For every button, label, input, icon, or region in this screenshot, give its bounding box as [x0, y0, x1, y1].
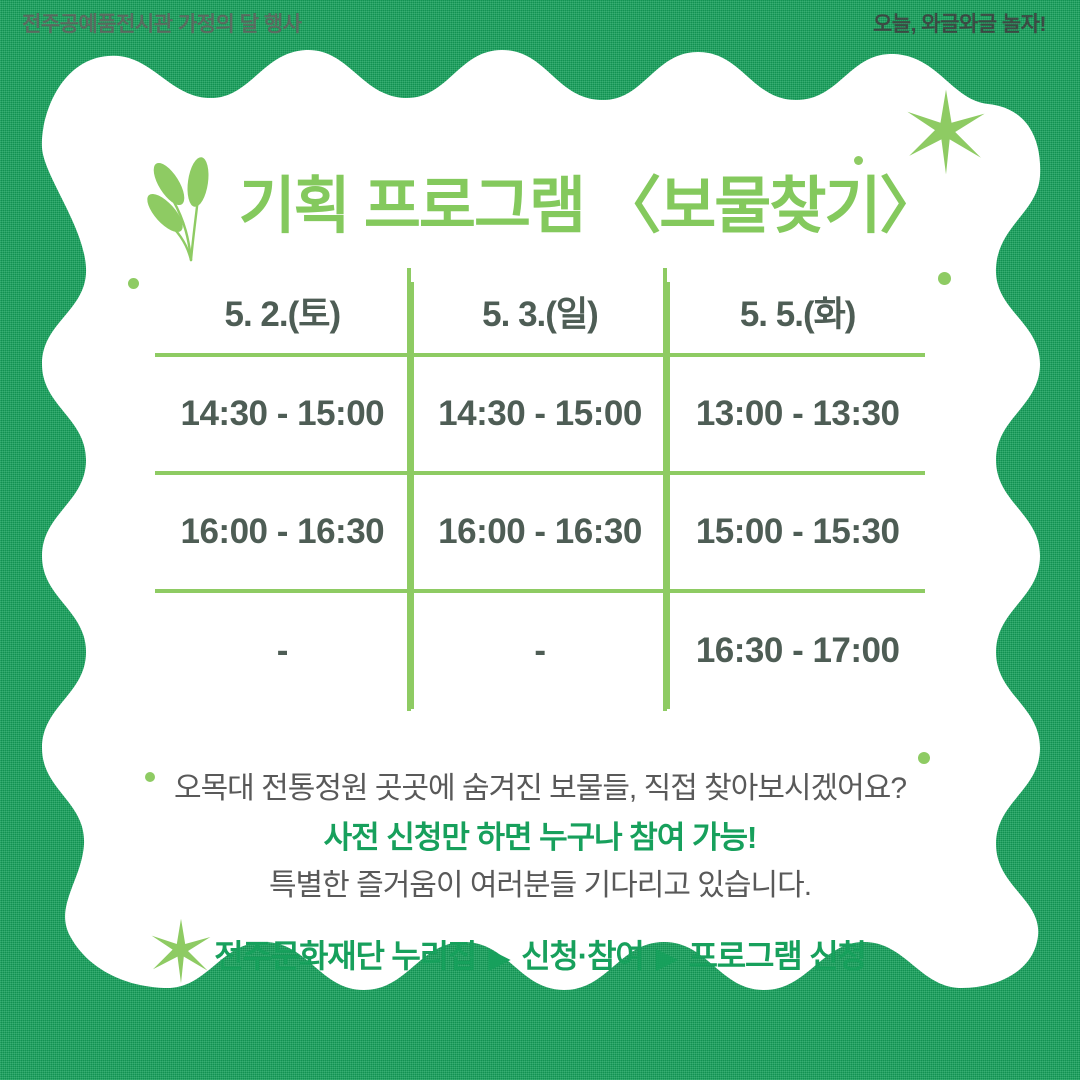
time-slot-cell: 16:30 - 17:00	[668, 591, 925, 709]
apply-step-3: 프로그램 신청	[689, 938, 866, 974]
column-header-day-2: 5. 3.(일)	[412, 282, 669, 355]
table-header-row: 5. 2.(토) 5. 3.(일) 5. 5.(화)	[155, 282, 925, 355]
table-vertical-rule	[663, 268, 667, 711]
apply-step-2: 신청·참여	[521, 938, 643, 974]
table-row: 16:00 - 16:30 16:00 - 16:30 15:00 - 15:3…	[155, 473, 925, 591]
table-row: - - 16:30 - 17:00	[155, 591, 925, 709]
time-slot-cell: 16:00 - 16:30	[412, 473, 669, 591]
decorative-dot	[918, 752, 930, 764]
time-slot-cell: 14:30 - 15:00	[155, 355, 412, 473]
arrow-right-icon: ▶	[651, 943, 681, 973]
leaf-sprig-icon	[141, 156, 225, 264]
arrow-right-icon: ▶	[484, 943, 514, 973]
decorative-dot	[938, 272, 951, 285]
description-line-1: 오목대 전통정원 곳곳에 숨겨진 보물들, 직접 찾아보시겠어요?	[0, 768, 1080, 811]
time-slot-cell: 15:00 - 15:30	[668, 473, 925, 591]
apply-step-1: 전주문화재단 누리집	[214, 938, 476, 974]
apply-path: 전주문화재단 누리집 ▶ 신청·참여 ▶ 프로그램 신청	[0, 931, 1080, 977]
time-slot-cell: 13:00 - 13:30	[668, 355, 925, 473]
time-slot-cell: -	[155, 591, 412, 709]
schedule-table: 5. 2.(토) 5. 3.(일) 5. 5.(화) 14:30 - 15:00…	[155, 282, 925, 709]
time-slot-cell: 14:30 - 15:00	[412, 355, 669, 473]
column-header-day-1: 5. 2.(토)	[155, 282, 412, 355]
table-row: 14:30 - 15:00 14:30 - 15:00 13:00 - 13:3…	[155, 355, 925, 473]
time-slot-cell: 16:00 - 16:30	[155, 473, 412, 591]
slogan-text: 오늘, 와글와글 놀자!	[873, 8, 1046, 38]
event-label: 전주공예품전시관 가정의 달 행사	[22, 8, 301, 38]
description-line-3: 특별한 즐거움이 여러분들 기다리고 있습니다.	[0, 865, 1080, 908]
page-title: 기획 프로그램 〈보물찾기〉	[239, 176, 940, 238]
description-highlight: 사전 신청만 하면 누구나 참여 가능!	[0, 816, 1080, 860]
time-slot-cell: -	[412, 591, 669, 709]
column-header-day-3: 5. 5.(화)	[668, 282, 925, 355]
table-vertical-rule	[407, 268, 411, 711]
title-row: 기획 프로그램 〈보물찾기〉	[0, 150, 1080, 264]
description-block: 오목대 전통정원 곳곳에 숨겨진 보물들, 직접 찾아보시겠어요? 사전 신청만…	[0, 768, 1080, 907]
decorative-dot	[128, 278, 139, 289]
